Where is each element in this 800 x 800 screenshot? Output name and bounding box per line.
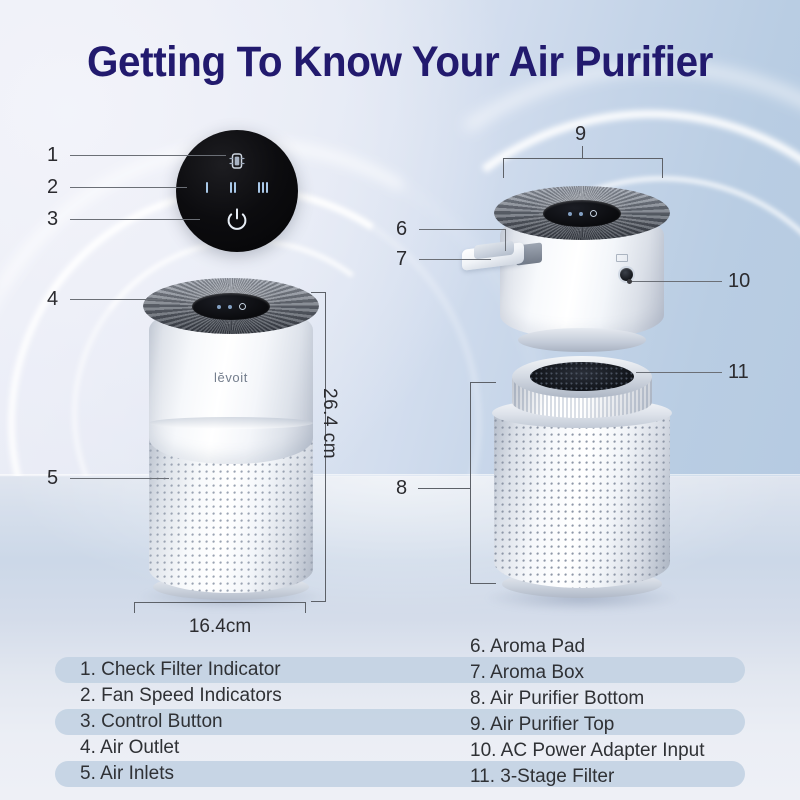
fan-speed-indicators[interactable] (176, 182, 298, 193)
height-dimension-cap-bottom (311, 601, 326, 602)
height-dimension-cap-top (311, 292, 326, 293)
callout-number-2: 2 (47, 177, 58, 197)
three-stage-filter[interactable] (512, 356, 652, 418)
callout-line-5 (70, 478, 169, 479)
check-filter-indicator-icon (229, 152, 246, 175)
legend-item-2: 2. Fan Speed Indicators (80, 683, 282, 709)
callout-bracket-9-right (662, 158, 663, 178)
callout-line-10 (630, 281, 722, 282)
control-panel-inline-right[interactable] (543, 200, 621, 227)
callout-line-1 (70, 155, 226, 156)
ac-power-label-mark (616, 254, 628, 262)
body-seam-left (149, 417, 313, 429)
air-purifier-top-collar (518, 328, 646, 352)
control-panel-icons-right (543, 200, 621, 227)
infographic-canvas: Getting To Know Your Air Purifier (0, 0, 800, 800)
callout-bracket-8-top (470, 382, 496, 383)
width-dimension-cap-left (134, 602, 135, 613)
callout-number-1: 1 (47, 145, 58, 165)
callout-line-7 (419, 259, 491, 260)
callout-number-10: 10 (728, 271, 750, 291)
legend-item-8: 8. Air Purifier Bottom (470, 686, 705, 712)
callout-line-6-drop (505, 229, 506, 251)
power-ring-icon (590, 210, 597, 217)
legend-item-9: 9. Air Purifier Top (470, 712, 705, 738)
callout-number-11: 11 (728, 362, 749, 382)
legend-item-3: 3. Control Button (80, 709, 282, 735)
legend-column-right: 6. Aroma Pad 7. Aroma Box 8. Air Purifie… (470, 634, 705, 790)
callout-line-3 (70, 219, 200, 220)
callout-number-6: 6 (396, 219, 407, 239)
legend-item-11: 11. 3-Stage Filter (470, 764, 705, 790)
aroma-box-assembly[interactable] (462, 240, 524, 270)
control-panel-inline-left[interactable] (192, 293, 270, 320)
legend-item-4: 4. Air Outlet (80, 735, 282, 761)
brand-logo: lĕvoit (143, 370, 319, 385)
filter-dot-icon (217, 305, 221, 309)
page-title: Getting To Know Your Air Purifier (24, 38, 776, 87)
air-outlet-grille-left (143, 278, 319, 334)
callout-line-2 (70, 187, 187, 188)
legend-item-10: 10. AC Power Adapter Input (470, 738, 705, 764)
legend: 1. Check Filter Indicator 2. Fan Speed I… (0, 628, 800, 800)
air-purifier-top-section (494, 186, 670, 366)
legend-item-5: 5. Air Inlets (80, 761, 282, 787)
callout-bracket-9-top (503, 158, 663, 159)
air-inlets-mesh-right (494, 412, 670, 588)
fan-speed-3[interactable] (258, 182, 268, 193)
legend-item-7: 7. Aroma Box (470, 660, 705, 686)
callout-line-4 (70, 299, 166, 300)
legend-column-left: 1. Check Filter Indicator 2. Fan Speed I… (80, 657, 282, 787)
callout-line-6 (419, 229, 505, 230)
callout-dot-10 (627, 279, 632, 284)
legend-item-1: 1. Check Filter Indicator (80, 657, 282, 683)
callout-number-5: 5 (47, 468, 58, 488)
callout-line-8 (418, 488, 471, 489)
callout-number-8: 8 (396, 478, 407, 498)
width-dimension-cap-right (305, 602, 306, 613)
power-icon[interactable] (224, 206, 250, 237)
width-dimension-line (134, 602, 306, 603)
speed-dot-icon (579, 212, 583, 216)
air-purifier-bottom-section (492, 356, 672, 618)
callout-number-7: 7 (396, 249, 407, 269)
control-panel-icons-left (192, 293, 270, 320)
control-panel-detail[interactable] (176, 130, 298, 252)
callout-number-9: 9 (575, 124, 586, 144)
speed-dot-icon (228, 305, 232, 309)
callout-line-11 (636, 372, 722, 373)
air-purifier-assembled: lĕvoit (143, 278, 319, 608)
legend-item-6: 6. Aroma Pad (470, 634, 705, 660)
power-ring-icon (239, 303, 246, 310)
fan-speed-1[interactable] (206, 182, 208, 193)
air-purifier-bottom-shell (492, 398, 672, 604)
callout-number-4: 4 (47, 289, 58, 309)
filter-carbon-core (530, 362, 634, 391)
callout-number-3: 3 (47, 209, 58, 229)
filter-dot-icon (568, 212, 572, 216)
fan-speed-2[interactable] (230, 182, 236, 193)
air-outlet-grille-right (494, 186, 670, 240)
callout-bracket-9-left (503, 158, 504, 178)
callout-bracket-8-spine (470, 382, 471, 584)
callout-bracket-8-bottom (470, 583, 496, 584)
height-dimension-label: 26.4 cm (318, 388, 340, 459)
